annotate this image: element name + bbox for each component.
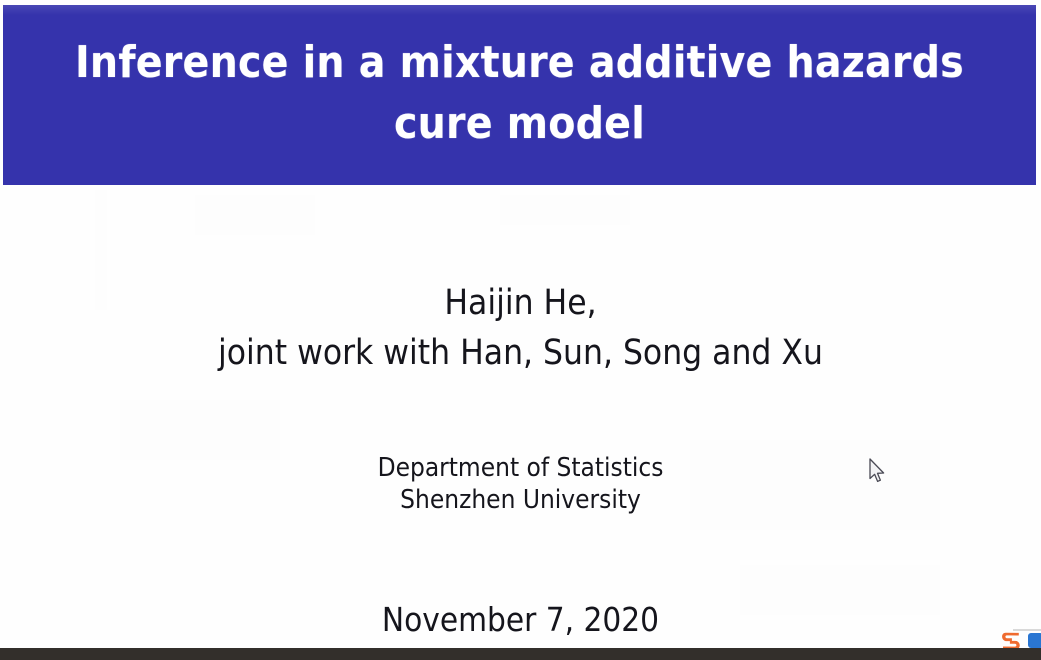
tray-icon-group[interactable]: [995, 628, 1041, 648]
banner-highlight: [3, 5, 1036, 15]
slide-title-line-1: Inference in a mixture additive hazards: [75, 33, 964, 93]
date-block: November 7, 2020: [0, 598, 1041, 642]
affiliation-block: Department of Statistics Shenzhen Univer…: [0, 452, 1041, 516]
window-bottom-bar: [0, 648, 1041, 660]
affiliation-institution: Shenzhen University: [0, 484, 1041, 516]
compression-ghost: [500, 195, 630, 225]
author-block: Haijin He, joint work with Han, Sun, Son…: [0, 278, 1041, 378]
screen: Inference in a mixture additive hazards …: [0, 0, 1041, 660]
slide-title-line-2: cure model: [394, 94, 645, 154]
blue-tray-icon[interactable]: [1028, 633, 1041, 648]
sogou-input-icon[interactable]: [1000, 630, 1022, 648]
presentation-date: November 7, 2020: [0, 598, 1041, 642]
presentation-slide: Inference in a mixture additive hazards …: [0, 0, 1041, 648]
author-name: Haijin He,: [0, 278, 1041, 328]
compression-ghost: [195, 195, 315, 235]
affiliation-department: Department of Statistics: [0, 452, 1041, 484]
compression-ghost: [120, 400, 280, 460]
author-collaborators: joint work with Han, Sun, Song and Xu: [0, 328, 1041, 378]
slide-title-banner: Inference in a mixture additive hazards …: [3, 5, 1036, 185]
